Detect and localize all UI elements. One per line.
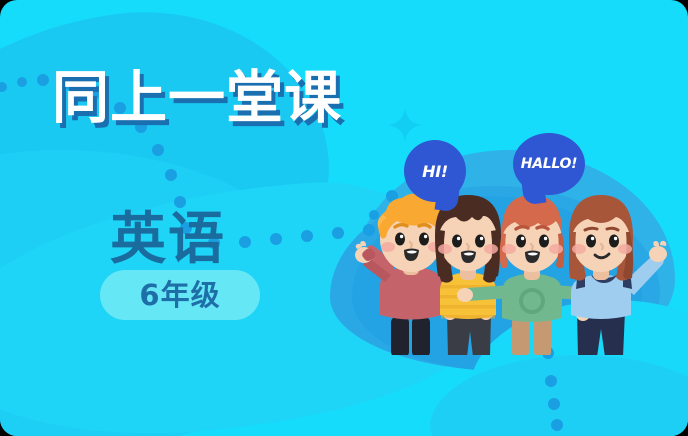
decor-dot-icon [548, 398, 560, 410]
grade-badge[interactable]: 6年级 [100, 270, 260, 320]
speech-bubble-hallo: HALLO! [513, 133, 585, 195]
speech-bubble-hi-text: HI! [422, 162, 448, 181]
speech-bubble-hallo-text: HALLO! [521, 156, 577, 172]
character-boy-blonde [355, 194, 450, 355]
children-illustration [355, 185, 688, 355]
decor-dot-icon [551, 419, 563, 431]
character-girl-brunette [435, 195, 501, 355]
title-block: 同上一堂课 英语 6年级 [0, 0, 360, 436]
character-girl-auburn [569, 195, 667, 355]
subject-title: 英语 [110, 194, 226, 275]
children-group-icon [355, 185, 688, 355]
course-cover-card: HI! HALLO! 同上一堂课 英语 6年级 [0, 0, 688, 436]
sparkle-icon [388, 108, 422, 142]
grade-badge-label: 6年级 [139, 281, 220, 310]
page-title: 同上一堂课 [52, 52, 342, 134]
speech-bubble-hi: HI! [404, 140, 466, 202]
decor-dot-icon [545, 375, 557, 387]
